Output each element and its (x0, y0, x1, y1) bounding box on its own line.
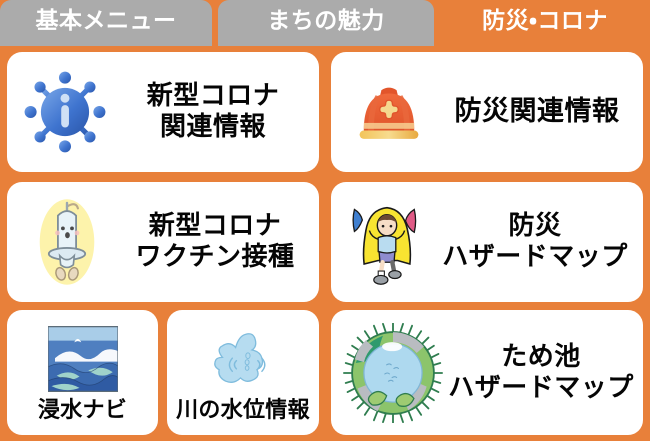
label-line-1: 川の水位情報 (176, 399, 310, 423)
person-raincoat-icon (341, 192, 433, 292)
tab-bosai-corona[interactable]: 防災・コロナ (440, 0, 650, 46)
reservoir-pond-icon (341, 321, 445, 425)
label-line-2: ハザードマップ (433, 242, 637, 273)
menu-card-label: 川の水位情報 (176, 399, 310, 423)
label-line-1: 新型コロナ (113, 81, 313, 112)
label-line-2: 関連情報 (113, 112, 313, 143)
label-line-1: 浸水ナビ (38, 399, 127, 423)
safety-helmet-icon (341, 64, 437, 160)
menu-card-bosai-hazard[interactable]: 防災 ハザードマップ (331, 182, 643, 302)
tab-label: まちの魅力 (267, 10, 385, 33)
menu-card-label: 新型コロナ 関連情報 (113, 81, 319, 142)
tab-bar: 基本メニュー まちの魅力 防災・コロナ (0, 0, 650, 46)
menu-card-bosai-info[interactable]: 防災関連情報 (331, 52, 643, 172)
menu-card-label: 浸水ナビ (38, 399, 127, 423)
label-line-2: ハザードマップ (445, 373, 637, 404)
label-line-1: 防災関連情報 (437, 96, 637, 128)
flood-waves-icon (46, 322, 120, 396)
label-line-2: ワクチン接種 (117, 242, 313, 273)
coronavirus-info-icon (17, 64, 113, 160)
menu-card-label: 新型コロナ ワクチン接種 (117, 211, 319, 272)
label-line-1: 新型コロナ (117, 211, 313, 242)
menu-card-river-level[interactable]: 川の水位情報 (167, 310, 319, 435)
tab-kihon-menu[interactable]: 基本メニュー (0, 0, 212, 46)
menu-card-shinsui-navi[interactable]: 浸水ナビ (7, 310, 158, 435)
syringe-mascot-icon (17, 190, 117, 294)
menu-card-tameike-hazard[interactable]: ため池 ハザードマップ (331, 310, 643, 435)
tab-label: 基本メニュー (36, 10, 177, 33)
menu-card-corona-info[interactable]: 新型コロナ 関連情報 (7, 52, 319, 172)
label-line-1: 防災 (433, 211, 637, 242)
menu-card-label: 防災 ハザードマップ (433, 211, 643, 272)
menu-card-label: 防災関連情報 (437, 96, 643, 128)
menu-card-label: ため池 ハザードマップ (445, 342, 643, 403)
water-splash-icon (206, 322, 280, 396)
label-line-1: ため池 (445, 342, 637, 373)
menu-grid: 新型コロナ 関連情報 (0, 46, 650, 441)
app-root: 基本メニュー まちの魅力 防災・コロナ (0, 0, 650, 441)
menu-card-vaccine[interactable]: 新型コロナ ワクチン接種 (7, 182, 319, 302)
tab-label: 防災・コロナ (482, 10, 608, 33)
tab-machi-no-miryoku[interactable]: まちの魅力 (218, 0, 434, 46)
